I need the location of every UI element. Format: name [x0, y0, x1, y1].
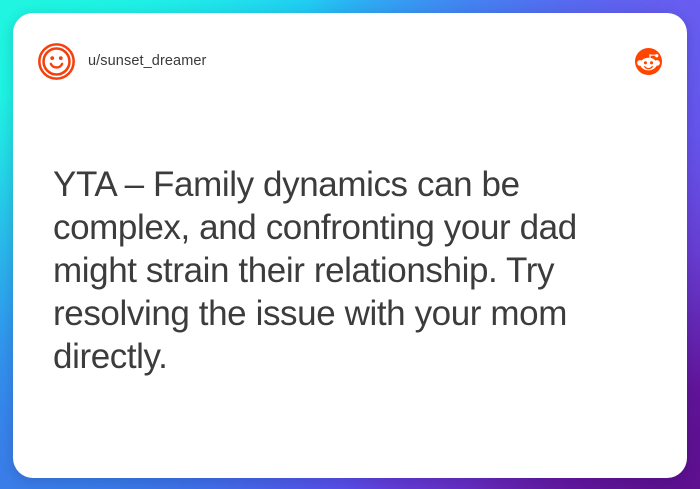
reddit-post-card: u/sunset_dreamer: [13, 13, 687, 478]
smiley-face-icon: [37, 42, 76, 81]
screenshot-stage: u/sunset_dreamer: [0, 0, 700, 489]
post-header: u/sunset_dreamer: [13, 13, 687, 109]
post-body: YTA – Family dynamics can be complex, an…: [53, 163, 649, 378]
post-body-text: YTA – Family dynamics can be complex, an…: [53, 163, 649, 378]
author-username: u/sunset_dreamer: [88, 53, 206, 69]
reddit-snoo-icon[interactable]: [632, 45, 665, 78]
post-author[interactable]: u/sunset_dreamer: [37, 42, 206, 81]
